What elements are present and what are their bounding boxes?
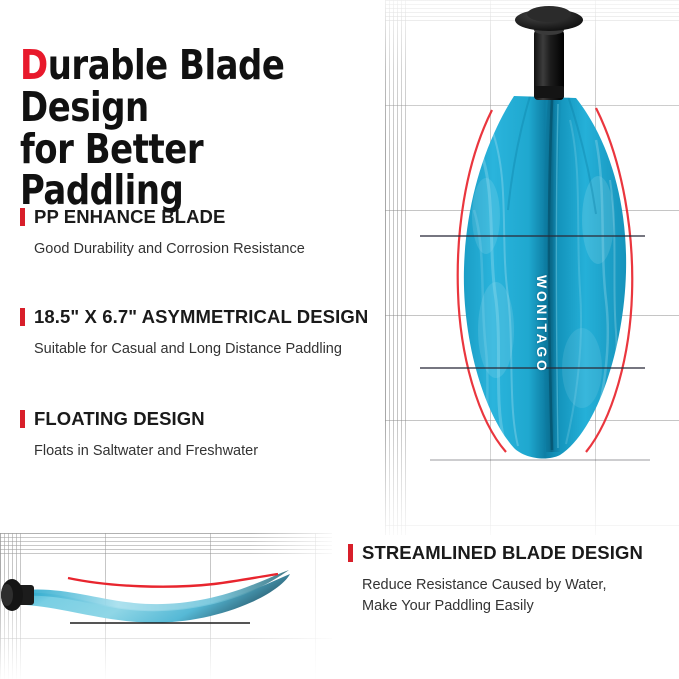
feature-subtitle: Suitable for Casual and Long Distance Pa… (34, 339, 420, 360)
red-curvature-guide (68, 574, 278, 587)
title-accent-letter: D (20, 41, 48, 89)
main-paddle-blade-image: WONITAGO (400, 0, 679, 475)
feature-title: FLOATING DESIGN (34, 408, 205, 430)
paddle-profile-image (0, 533, 340, 679)
shaft-collar-top (527, 6, 571, 22)
feature-block-floating-design: FLOATING DESIGN Floats in Saltwater and … (20, 408, 420, 462)
feature-subtitle: Floats in Saltwater and Freshwater (34, 441, 420, 462)
red-bar-bullet-icon (20, 308, 25, 326)
page-title: Durable Blade Design for Better Paddling (20, 45, 370, 212)
feature-title: 18.5" X 6.7" ASYMMETRICAL DESIGN (34, 306, 368, 328)
feature-block-streamlined-design: STREAMLINED BLADE DESIGN Reduce Resistan… (348, 542, 679, 617)
feature-heading: 18.5" X 6.7" ASYMMETRICAL DESIGN (20, 306, 420, 328)
profile-shaft-cap (1, 584, 13, 606)
brand-label: WONITAGO (534, 275, 550, 373)
feature-title: STREAMLINED BLADE DESIGN (362, 542, 643, 564)
feature-subtitle: Good Durability and Corrosion Resistance (34, 239, 420, 260)
shaft-ferrule-band (534, 86, 564, 98)
red-bar-bullet-icon (20, 208, 25, 226)
feature-block-pp-enhance-blade: PP ENHANCE BLADE Good Durability and Cor… (20, 206, 420, 260)
title-line2: for Better Paddling (20, 125, 203, 215)
feature-heading: PP ENHANCE BLADE (20, 206, 420, 228)
feature-title: PP ENHANCE BLADE (34, 206, 225, 228)
title-line1-rest: urable Blade Design (20, 41, 284, 131)
feature-subtitle: Reduce Resistance Caused by Water, Make … (362, 575, 679, 617)
infographic-canvas: Durable Blade Design for Better Paddling… (0, 0, 679, 679)
feature-block-asymmetrical-design: 18.5" X 6.7" ASYMMETRICAL DESIGN Suitabl… (20, 306, 420, 360)
feature-heading: FLOATING DESIGN (20, 408, 420, 430)
red-bar-bullet-icon (20, 410, 25, 428)
feature-heading: STREAMLINED BLADE DESIGN (348, 542, 679, 564)
red-bar-bullet-icon (348, 544, 353, 562)
